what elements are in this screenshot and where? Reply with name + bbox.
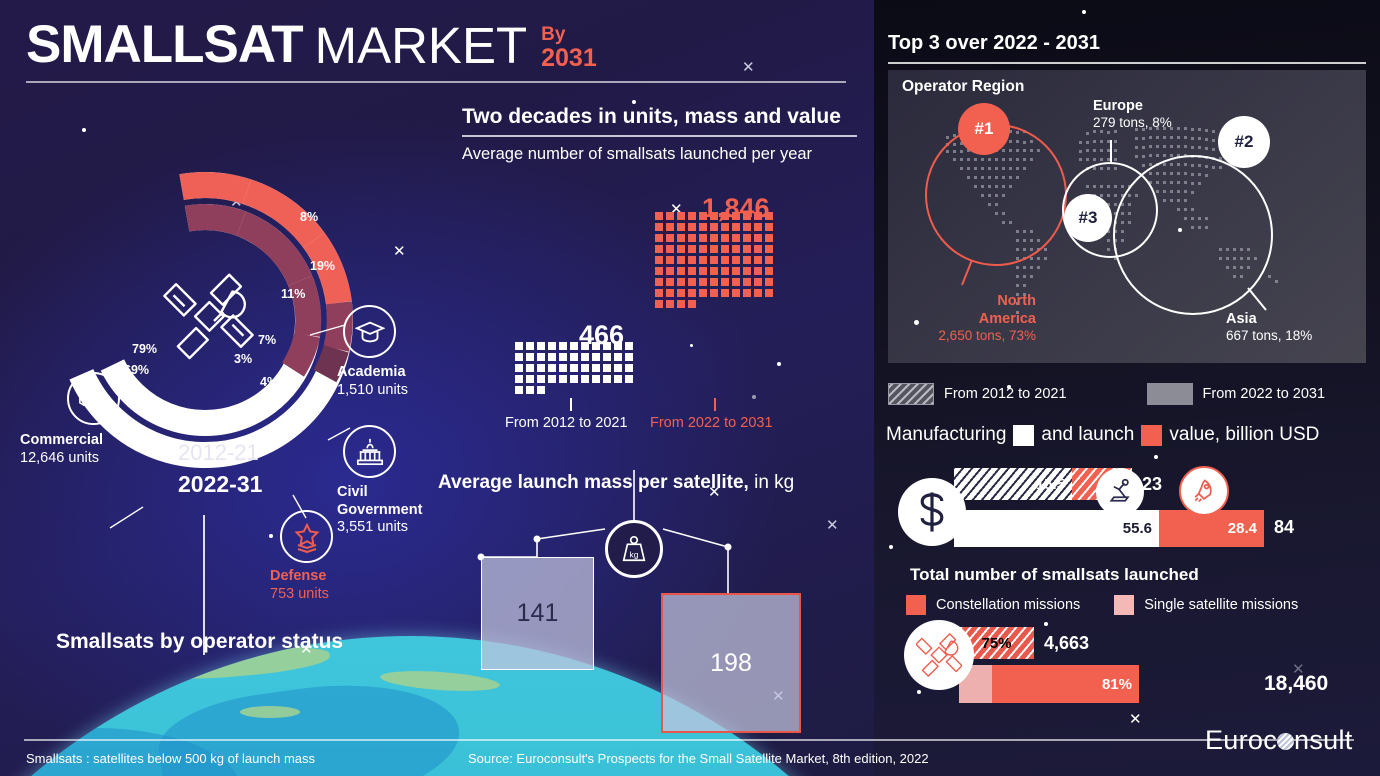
matrix-cell — [515, 342, 523, 350]
matrix-cell — [515, 375, 523, 383]
matrix-cell — [688, 245, 696, 253]
rank-badge-europe[interactable]: #3 — [1064, 194, 1112, 242]
matrix-cell — [614, 375, 622, 383]
matrix-cell — [688, 289, 696, 297]
matrix-cell — [666, 267, 674, 275]
mass-value-right: 198 — [710, 649, 752, 678]
matrix-cell — [699, 278, 707, 286]
units-value-2012-2021: 466 — [579, 320, 624, 351]
matrix-cell — [526, 353, 534, 361]
svg-text:kg: kg — [630, 549, 639, 559]
total-smallsats-legend: Constellation missions Single satellite … — [906, 595, 1298, 615]
matrix-cell — [699, 245, 707, 253]
matrix-cell — [559, 353, 567, 361]
total-pct-past: 75% — [974, 635, 1018, 652]
kg-badge[interactable]: kg — [605, 520, 663, 578]
matrix-cell — [743, 223, 751, 231]
matrix-cell — [710, 234, 718, 242]
infographic-root: ✕ ✕ ✕ ✕ ✕ ✕ ✕ ✕ SMALLSAT MARKET By 2031 — [0, 0, 1380, 776]
matrix-cell — [655, 245, 663, 253]
logo-text-pre: Euroc — [1205, 725, 1277, 755]
legend-label-future: From 2022 to 2031 — [1203, 386, 1326, 402]
matrix-cell — [688, 234, 696, 242]
rank-label-2: #2 — [1235, 132, 1254, 152]
matrix-cell — [710, 245, 718, 253]
matrix-cell — [754, 256, 762, 264]
matrix-cell — [721, 223, 729, 231]
donut-pct-11: 11% — [281, 287, 305, 301]
matrix-cell — [677, 278, 685, 286]
matrix-cell — [537, 364, 545, 372]
two-decades-heading: Two decades in units, mass and value — [462, 105, 857, 129]
region-caption-europe: Europe 279 tons, 8% — [1093, 97, 1243, 132]
matrix-cell — [765, 256, 773, 264]
matrix-cell — [625, 375, 633, 383]
kg-weight-icon: kg — [619, 534, 649, 564]
matrix-cell — [666, 278, 674, 286]
star-dot — [777, 362, 781, 366]
matrix-cell — [655, 234, 663, 242]
two-decades-subheading: Average number of smallsats launched per… — [462, 145, 857, 164]
matrix-cell — [548, 353, 556, 361]
matrix-cell — [581, 375, 589, 383]
star-dot — [914, 320, 919, 325]
matrix-cell — [526, 386, 534, 394]
right-panel-divider — [888, 62, 1366, 64]
footer-source: Source: Euroconsult's Prospects for the … — [468, 751, 929, 766]
matrix-cell — [721, 245, 729, 253]
matrix-cell — [677, 289, 685, 297]
matrix-cell — [666, 256, 674, 264]
legend-label-single: Single satellite missions — [1144, 597, 1298, 613]
matrix-cell — [548, 375, 556, 383]
star-dot — [1044, 622, 1048, 626]
rank-label-1: #1 — [975, 119, 994, 139]
matrix-cell — [666, 223, 674, 231]
matrix-cell — [655, 267, 663, 275]
value-bar-2022-2031: 55.6 28.4 — [954, 510, 1264, 547]
star-dot — [889, 545, 893, 549]
title-by-label: By — [541, 25, 597, 45]
matrix-cell — [754, 267, 762, 275]
matrix-cell — [603, 353, 611, 361]
defense-name: Defense — [270, 568, 326, 584]
matrix-cell — [765, 245, 773, 253]
matrix-cell — [603, 364, 611, 372]
footer-divider — [24, 739, 1354, 741]
donut-pct-3: 3% — [234, 352, 252, 366]
total-value-past: 4,663 — [1044, 633, 1089, 654]
matrix-cell — [710, 256, 718, 264]
matrix-cell — [699, 223, 707, 231]
graduation-cap-icon — [355, 317, 385, 347]
units-label-2012-2021: From 2012 to 2021 — [505, 415, 628, 431]
manufacturing-callout[interactable] — [1096, 468, 1144, 516]
academia-name: Academia — [337, 364, 406, 380]
matrix-cell — [570, 364, 578, 372]
star-dot — [917, 690, 921, 694]
mf-word-1: Manufacturing — [886, 424, 1006, 446]
academia-caption: Academia 1,510 units — [337, 364, 457, 399]
matrix-cell — [754, 223, 762, 231]
legend-swatch-future — [1147, 383, 1193, 405]
donut-pct-4: 4% — [260, 375, 278, 389]
region-eu-stat: 279 tons, 8% — [1093, 115, 1172, 130]
matrix-cell — [666, 212, 674, 220]
matrix-cell — [721, 289, 729, 297]
matrix-cell — [677, 267, 685, 275]
mass-value-left: 141 — [517, 599, 559, 628]
commercial-units: 12,646 units — [20, 450, 170, 468]
logo-text-post: nsult — [1294, 725, 1353, 755]
donut-center-periods: 2012-21 2022-31 — [178, 440, 262, 498]
donut-pct-8: 8% — [300, 210, 318, 224]
matrix-cell — [710, 289, 718, 297]
matrix-cell — [743, 256, 751, 264]
region-eu-name: Europe — [1093, 97, 1243, 115]
matrix-cell — [688, 300, 696, 308]
total-bar-2022-2031: 81% — [959, 665, 1139, 703]
civgov-name-2: Government — [337, 502, 422, 518]
title-divider — [26, 81, 846, 83]
matrix-cell — [570, 353, 578, 361]
matrix-cell — [743, 234, 751, 242]
matrix-cell — [688, 278, 696, 286]
mf-chip-launch — [1141, 425, 1162, 446]
matrix-cell — [754, 245, 762, 253]
value-total-future: 84 — [1274, 517, 1294, 538]
defense-caption: Defense 753 units — [270, 568, 390, 603]
star-dot — [1082, 10, 1086, 14]
matrix-cell — [581, 364, 589, 372]
rank-label-3: #3 — [1079, 208, 1098, 228]
mass-square-2012-2021: 141 — [481, 557, 594, 670]
dollar-sign-icon — [912, 490, 952, 534]
matrix-cell — [592, 364, 600, 372]
rocket-icon — [1190, 477, 1218, 505]
dollar-badge[interactable] — [898, 478, 966, 546]
units-value-2022-2031: 1,846 — [702, 193, 770, 224]
matrix-cell — [732, 289, 740, 297]
region-na-stat: 2,650 tons, 73% — [938, 328, 1036, 343]
units-matrix-2022-2031 — [655, 212, 773, 308]
matrix-cell — [754, 278, 762, 286]
matrix-cell — [765, 223, 773, 231]
value-seg-manufacturing-past: 15.5 — [954, 468, 1072, 500]
matrix-cell — [688, 212, 696, 220]
legend-chip-single — [1114, 595, 1134, 615]
matrix-cell — [688, 223, 696, 231]
matrix-cell — [732, 245, 740, 253]
matrix-cell — [537, 342, 545, 350]
matrix-cell — [548, 364, 556, 372]
region-caption-north-america: North America 2,650 tons, 73% — [906, 292, 1036, 345]
units-tick-left — [570, 398, 572, 411]
period-2022-31: 2022-31 — [178, 471, 262, 498]
title-by-block: By 2031 — [541, 25, 597, 71]
landmass-shape — [240, 706, 300, 718]
satellite-badge[interactable] — [904, 620, 974, 690]
matrix-cell — [743, 245, 751, 253]
region-caption-asia: Asia 667 tons, 18% — [1226, 310, 1366, 345]
matrix-cell — [699, 234, 707, 242]
government-building-icon — [355, 437, 385, 467]
matrix-cell — [732, 234, 740, 242]
legend-swatch-past — [888, 383, 934, 405]
mf-word-2: and launch — [1041, 424, 1134, 446]
matrix-cell — [548, 342, 556, 350]
matrix-cell — [721, 234, 729, 242]
matrix-cell — [710, 223, 718, 231]
civgov-name-1: Civil — [337, 484, 368, 500]
matrix-cell — [710, 267, 718, 275]
right-panel: ✕ ✕ ✕ ✕ Top 3 over 2022 - 2031 Operator … — [874, 0, 1380, 776]
matrix-cell — [677, 256, 685, 264]
matrix-cell — [765, 267, 773, 275]
matrix-cell — [570, 342, 578, 350]
matrix-cell — [581, 353, 589, 361]
star-dot — [752, 395, 756, 399]
matrix-cell — [677, 245, 685, 253]
matrix-cell — [537, 386, 545, 394]
matrix-cell — [688, 267, 696, 275]
rank-badge-north-america[interactable]: #1 — [958, 103, 1010, 155]
military-rank-star-icon — [291, 521, 323, 553]
donut-pct-19: 19% — [310, 259, 335, 273]
matrix-cell — [625, 364, 633, 372]
page-title: SMALLSAT MARKET By 2031 — [26, 18, 846, 83]
matrix-cell — [592, 353, 600, 361]
star-dot — [1178, 228, 1182, 232]
mf-chip-manufacturing — [1013, 425, 1034, 446]
donut-pct-69: 69% — [124, 363, 149, 377]
matrix-cell — [754, 289, 762, 297]
matrix-cell — [526, 364, 534, 372]
matrix-cell — [515, 364, 523, 372]
academia-badge[interactable] — [343, 305, 396, 358]
right-panel-title: Top 3 over 2022 - 2031 — [888, 32, 1100, 55]
matrix-cell — [743, 278, 751, 286]
matrix-cell — [559, 342, 567, 350]
matrix-cell — [765, 289, 773, 297]
matrix-cell — [699, 267, 707, 275]
operator-status-section-title: Smallsats by operator status — [56, 630, 343, 654]
period-legend: From 2012 to 2021 From 2022 to 2031 — [888, 383, 1366, 405]
matrix-cell — [537, 375, 545, 383]
value-manufacturing-past: 15.5 — [1029, 476, 1072, 493]
matrix-cell — [677, 223, 685, 231]
matrix-cell — [559, 364, 567, 372]
title-by-year: 2031 — [541, 45, 597, 71]
matrix-cell — [666, 234, 674, 242]
manufacturing-robot-icon — [1106, 478, 1134, 506]
region-na-name: North — [906, 292, 1036, 310]
commercial-badge[interactable] — [67, 372, 120, 425]
manufacturing-launch-title: Manufacturing and launch value, billion … — [886, 424, 1319, 446]
total-pct-future: 81% — [1095, 676, 1139, 693]
matrix-cell — [732, 256, 740, 264]
operator-region-map: Operator Region — [888, 70, 1366, 363]
units-label-2022-2031: From 2022 to 2031 — [650, 415, 773, 431]
region-na-name2: America — [906, 310, 1036, 328]
matrix-cell — [603, 375, 611, 383]
defense-units: 753 units — [270, 586, 390, 604]
donut-pct-7: 7% — [258, 333, 276, 347]
academia-units: 1,510 units — [337, 382, 457, 400]
matrix-cell — [526, 375, 534, 383]
matrix-cell — [592, 375, 600, 383]
matrix-cell — [732, 278, 740, 286]
operator-status-donut-chart: 79% 69% 8% 19% 11% 7% 3% 4% 2012-21 2022… — [10, 120, 450, 540]
matrix-cell — [721, 256, 729, 264]
matrix-cell — [614, 353, 622, 361]
satellite-icon — [916, 632, 962, 678]
logo-globe-icon — [1277, 733, 1294, 750]
left-panel: ✕ ✕ ✕ ✕ ✕ ✕ ✕ ✕ SMALLSAT MARKET By 2031 — [0, 0, 874, 776]
matrix-cell — [515, 353, 523, 361]
matrix-cell — [625, 353, 633, 361]
title-thin: MARKET — [315, 20, 528, 71]
commercial-caption: Commercial 12,646 units — [20, 432, 170, 467]
star-dot — [632, 100, 636, 104]
matrix-cell — [754, 234, 762, 242]
commercial-name: Commercial — [20, 432, 103, 448]
matrix-cell — [677, 212, 685, 220]
value-launch-future: 28.4 — [1221, 520, 1264, 537]
two-decades-header: Two decades in units, mass and value Ave… — [462, 105, 857, 164]
value-total-past: 23 — [1142, 474, 1162, 495]
matrix-cell — [559, 375, 567, 383]
matrix-cell — [614, 364, 622, 372]
matrix-cell — [699, 289, 707, 297]
star-icon: ✕ — [1129, 710, 1142, 728]
legend-chip-constellation — [906, 595, 926, 615]
matrix-cell — [666, 300, 674, 308]
matrix-cell — [765, 278, 773, 286]
matrix-cell — [666, 289, 674, 297]
donut-pct-79: 79% — [132, 342, 157, 356]
matrix-cell — [625, 342, 633, 350]
matrix-cell — [688, 256, 696, 264]
star-dot — [690, 344, 693, 347]
matrix-cell — [677, 234, 685, 242]
euroconsult-logo: Eurocnsult — [1205, 725, 1353, 756]
region-asia-name: Asia — [1226, 310, 1366, 328]
matrix-cell — [666, 245, 674, 253]
total-smallsats-title: Total number of smallsats launched — [910, 565, 1199, 585]
period-2012-21: 2012-21 — [178, 440, 262, 466]
matrix-cell — [732, 267, 740, 275]
two-decades-divider — [462, 135, 857, 137]
satellite-icon — [164, 275, 252, 358]
footer-note: Smallsats : satellites below 500 kg of l… — [26, 751, 315, 766]
value-seg-launch-future: 28.4 — [1159, 510, 1264, 547]
matrix-cell — [743, 267, 751, 275]
mf-word-3: value, billion USD — [1169, 424, 1319, 446]
region-asia-stat: 667 tons, 18% — [1226, 328, 1312, 343]
matrix-cell — [699, 256, 707, 264]
matrix-cell — [743, 289, 751, 297]
star-dot — [1154, 455, 1158, 459]
matrix-cell — [570, 375, 578, 383]
total-value-future: 18,460 — [1264, 672, 1328, 696]
mass-square-2022-2031: 198 — [661, 593, 801, 733]
value-manufacturing-future: 55.6 — [1116, 520, 1159, 537]
matrix-cell — [655, 223, 663, 231]
handshake-icon — [78, 384, 110, 414]
defense-badge[interactable] — [280, 510, 333, 563]
matrix-cell — [655, 289, 663, 297]
matrix-cell — [537, 353, 545, 361]
legend-label-constellation: Constellation missions — [936, 597, 1080, 613]
value-seg-manufacturing-future: 55.6 — [954, 510, 1159, 547]
matrix-cell — [732, 223, 740, 231]
matrix-cell — [655, 300, 663, 308]
legend-label-past: From 2012 to 2021 — [944, 386, 1067, 402]
matrix-cell — [765, 234, 773, 242]
units-tick-right — [714, 398, 716, 411]
civil-government-badge[interactable] — [343, 425, 396, 478]
matrix-cell — [655, 278, 663, 286]
matrix-cell — [721, 267, 729, 275]
landmass-shape — [0, 646, 170, 704]
matrix-cell — [721, 278, 729, 286]
matrix-cell — [655, 212, 663, 220]
matrix-cell — [526, 342, 534, 350]
matrix-cell — [655, 256, 663, 264]
matrix-cell — [677, 300, 685, 308]
matrix-cell — [515, 386, 523, 394]
launch-callout[interactable] — [1179, 466, 1229, 516]
total-seg-constellation-future: 81% — [992, 665, 1139, 703]
title-bold: SMALLSAT — [26, 18, 303, 71]
matrix-cell — [710, 278, 718, 286]
